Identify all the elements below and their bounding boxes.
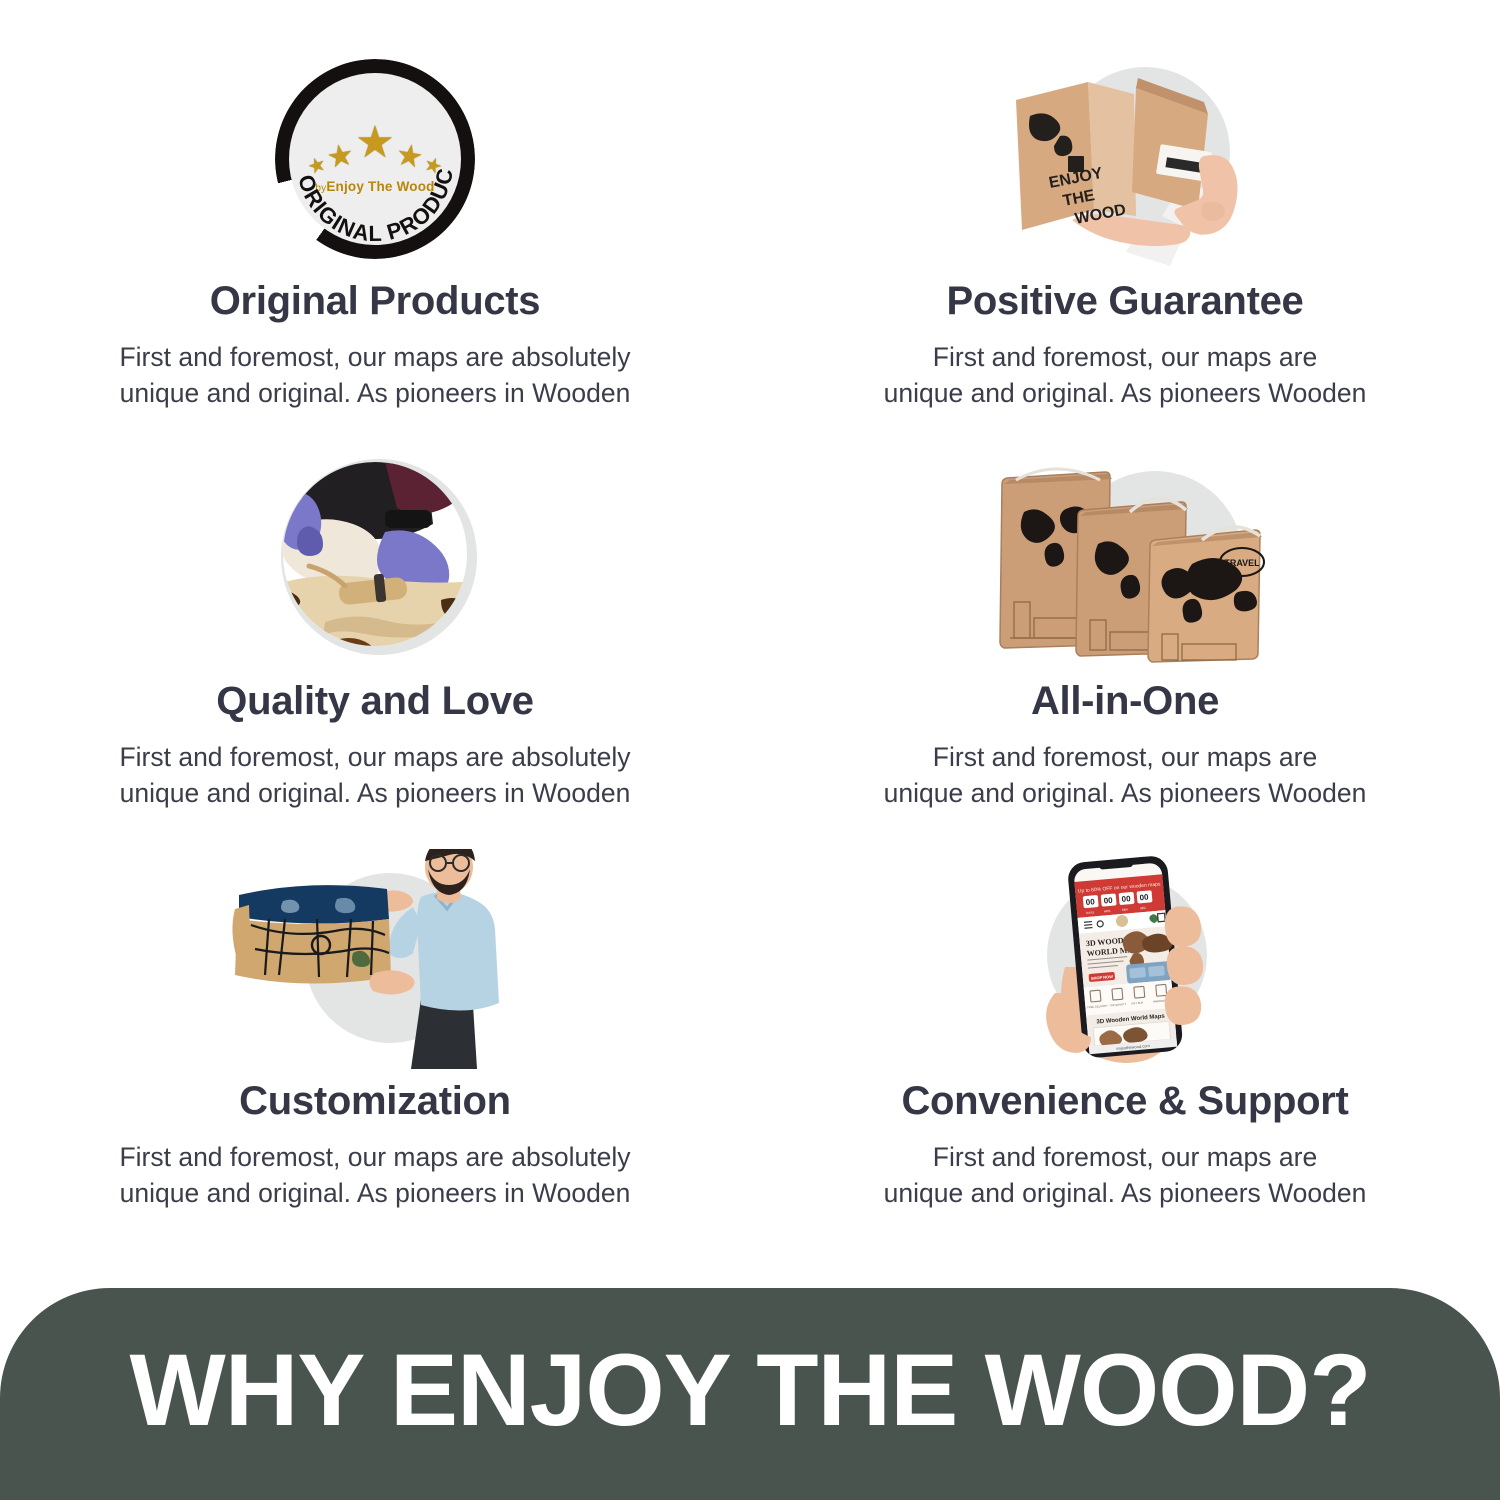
svg-text:00: 00: [1103, 895, 1113, 905]
feature-card-convenience-and-support: Up to 60% OFF on our wooden maps 00 00 0…: [750, 845, 1500, 1245]
svg-text:MIN: MIN: [1122, 907, 1128, 911]
feature-body-line: unique and original. As pioneers in Wood…: [119, 775, 630, 811]
feature-body-line: First and foremost, our maps are: [884, 739, 1367, 775]
original-product-seal-icon: ★ ★ ★ ★ ★ byEnjoy The Wood: [275, 59, 475, 259]
seal-arc-label: ORIGINAL PRODUCT: [275, 59, 458, 246]
svg-text:HRS: HRS: [1104, 908, 1111, 913]
feature-title-positive-guarantee: Positive Guarantee: [947, 279, 1304, 323]
feature-card-original-products: ★ ★ ★ ★ ★ byEnjoy The Wood: [0, 45, 750, 445]
feature-body-convenience-and-support: First and foremost, our maps are unique …: [884, 1139, 1367, 1211]
svg-text:00: 00: [1139, 892, 1149, 902]
feature-title-all-in-one: All-in-One: [1031, 679, 1219, 723]
infographic-page: ★ ★ ★ ★ ★ byEnjoy The Wood: [0, 0, 1500, 1500]
feature-title-convenience-and-support: Convenience & Support: [901, 1079, 1348, 1123]
banner-headline: WHY ENJOY THE WOOD?: [129, 1339, 1370, 1441]
hand-holding-phone-illustration: Up to 60% OFF on our wooden maps 00 00 0…: [1025, 847, 1225, 1072]
feature-body-line: unique and original. As pioneers in Wood…: [119, 1175, 630, 1211]
feature-card-quality-and-love: Quality and Love First and foremost, our…: [0, 445, 750, 845]
feature-body-line: unique and original. As pioneers Wooden: [884, 1175, 1367, 1211]
media-craftsman-gloves-wood: [225, 445, 525, 673]
svg-text:TRAVEL: TRAVEL: [1224, 558, 1260, 568]
media-man-holding-city-map: [225, 845, 525, 1073]
media-stacked-map-boxes: TRAVEL: [975, 445, 1275, 673]
craftsman-gloves-illustration: [265, 454, 485, 664]
feature-body-customization: First and foremost, our maps are absolut…: [119, 1139, 630, 1211]
feature-body-line: unique and original. As pioneers in Wood…: [119, 375, 630, 411]
feature-card-customization: Customization First and foremost, our ma…: [0, 845, 750, 1245]
man-holding-city-map-illustration: [225, 849, 525, 1069]
feature-grid: ★ ★ ★ ★ ★ byEnjoy The Wood: [0, 0, 1500, 1290]
svg-text:00: 00: [1121, 894, 1131, 904]
feature-body-original-products: First and foremost, our maps are absolut…: [119, 339, 630, 411]
feature-body-quality-and-love: First and foremost, our maps are absolut…: [119, 739, 630, 811]
feature-card-all-in-one: TRAVEL All-in-One First and foremost, ou…: [750, 445, 1500, 845]
feature-body-line: unique and original. As pioneers Wooden: [884, 375, 1367, 411]
svg-text:DAYS: DAYS: [1086, 910, 1094, 915]
feature-body-positive-guarantee: First and foremost, our maps are unique …: [884, 339, 1367, 411]
feature-body-line: First and foremost, our maps are absolut…: [119, 739, 630, 775]
svg-text:00: 00: [1085, 897, 1095, 907]
feature-title-customization: Customization: [239, 1079, 511, 1123]
feature-title-original-products: Original Products: [210, 279, 541, 323]
seal-arc-text-path: ORIGINAL PRODUCT: [275, 59, 458, 246]
feature-body-line: First and foremost, our maps are absolut…: [119, 1139, 630, 1175]
hands-holding-package-illustration: ENJOY THE WOOD: [990, 52, 1260, 267]
media-original-product-seal: ★ ★ ★ ★ ★ byEnjoy The Wood: [225, 45, 525, 273]
media-hands-holding-package: ENJOY THE WOOD: [975, 45, 1275, 273]
feature-card-positive-guarantee: ENJOY THE WOOD Positive Guarantee First …: [750, 45, 1500, 445]
feature-body-line: First and foremost, our maps are: [884, 339, 1367, 375]
feature-body-all-in-one: First and foremost, our maps are unique …: [884, 739, 1367, 811]
feature-body-line: unique and original. As pioneers Wooden: [884, 775, 1367, 811]
media-hand-holding-phone: Up to 60% OFF on our wooden maps 00 00 0…: [975, 845, 1275, 1073]
feature-title-quality-and-love: Quality and Love: [216, 679, 534, 723]
feature-body-line: First and foremost, our maps are: [884, 1139, 1367, 1175]
bottom-banner: WHY ENJOY THE WOOD?: [0, 1288, 1500, 1500]
feature-body-line: First and foremost, our maps are absolut…: [119, 339, 630, 375]
stacked-map-boxes-illustration: TRAVEL: [980, 452, 1270, 667]
seal-arc-text: ORIGINAL PRODUCT: [275, 59, 475, 259]
